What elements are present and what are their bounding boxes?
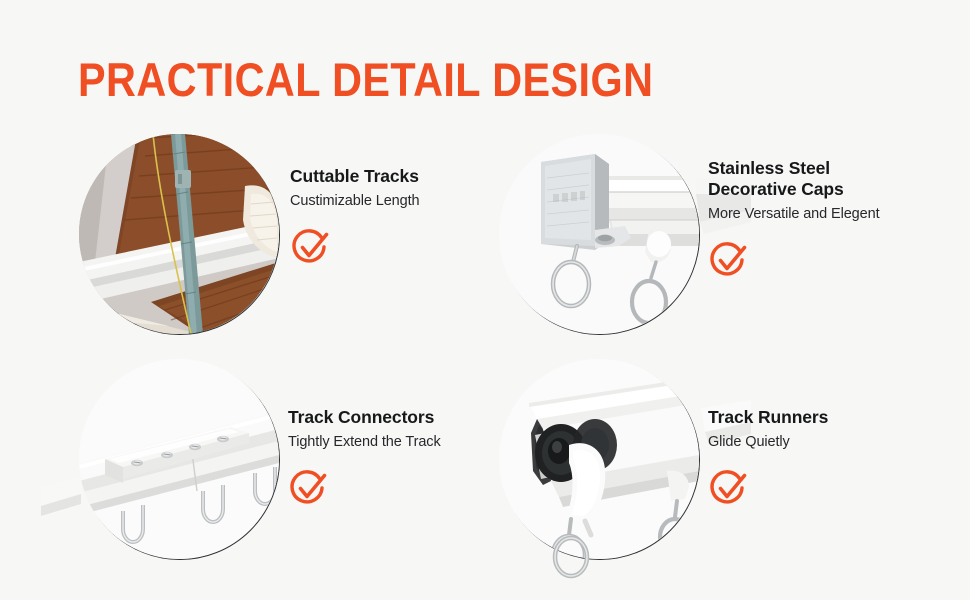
check-circle-icon bbox=[288, 468, 328, 508]
photo-track-connector-plate-icon bbox=[79, 359, 279, 559]
feature-subtitle: Custimizable Length bbox=[290, 192, 518, 211]
check-circle-icon bbox=[708, 468, 748, 508]
feature-text-decorative-caps: Stainless Steel Decorative Caps More Ver… bbox=[708, 158, 936, 280]
feature-card-track-runners: Track Runners Glide Quietly bbox=[490, 345, 940, 575]
feature-subtitle: Tightly Extend the Track bbox=[288, 433, 516, 452]
feature-card-cuttable-tracks: Cuttable Tracks Custimizable Length bbox=[70, 120, 520, 350]
photo-cutting-track-on-wood-bench-icon bbox=[79, 134, 279, 334]
check-circle-icon bbox=[290, 227, 330, 267]
infographic-page: PRACTICAL DETAIL DESIGN bbox=[0, 0, 970, 600]
feature-card-track-connectors: Track Connectors Tightly Extend the Trac… bbox=[70, 345, 520, 575]
photo-circle-decorative-caps bbox=[500, 135, 700, 335]
photo-circle-track-runners bbox=[500, 360, 700, 560]
feature-title-line1: Stainless Steel bbox=[708, 158, 936, 179]
photo-circle-track-connectors bbox=[80, 360, 280, 560]
feature-text-cuttable-tracks: Cuttable Tracks Custimizable Length bbox=[290, 166, 518, 267]
feature-text-track-runners: Track Runners Glide Quietly bbox=[708, 407, 936, 508]
page-title: PRACTICAL DETAIL DESIGN bbox=[78, 54, 653, 106]
feature-text-track-connectors: Track Connectors Tightly Extend the Trac… bbox=[288, 407, 516, 508]
check-circle-icon bbox=[708, 240, 748, 280]
photo-stainless-steel-end-cap-icon bbox=[499, 134, 699, 334]
feature-grid: Cuttable Tracks Custimizable Length bbox=[0, 120, 970, 580]
feature-title-line2: Decorative Caps bbox=[708, 179, 936, 200]
feature-title: Track Connectors bbox=[288, 407, 516, 428]
photo-circle-cuttable-tracks bbox=[80, 135, 280, 335]
photo-clip-track-runners bbox=[499, 359, 699, 559]
feature-subtitle: Glide Quietly bbox=[708, 433, 936, 452]
photo-clip-track-connectors bbox=[79, 359, 279, 559]
photo-clip-decorative-caps bbox=[499, 134, 699, 334]
feature-title: Cuttable Tracks bbox=[290, 166, 518, 187]
photo-track-runner-glider-icon bbox=[499, 359, 699, 559]
feature-card-decorative-caps: Stainless Steel Decorative Caps More Ver… bbox=[490, 120, 940, 350]
feature-subtitle: More Versatile and Elegent bbox=[708, 205, 936, 224]
photo-clip-cuttable-tracks bbox=[79, 134, 279, 334]
feature-title: Track Runners bbox=[708, 407, 936, 428]
